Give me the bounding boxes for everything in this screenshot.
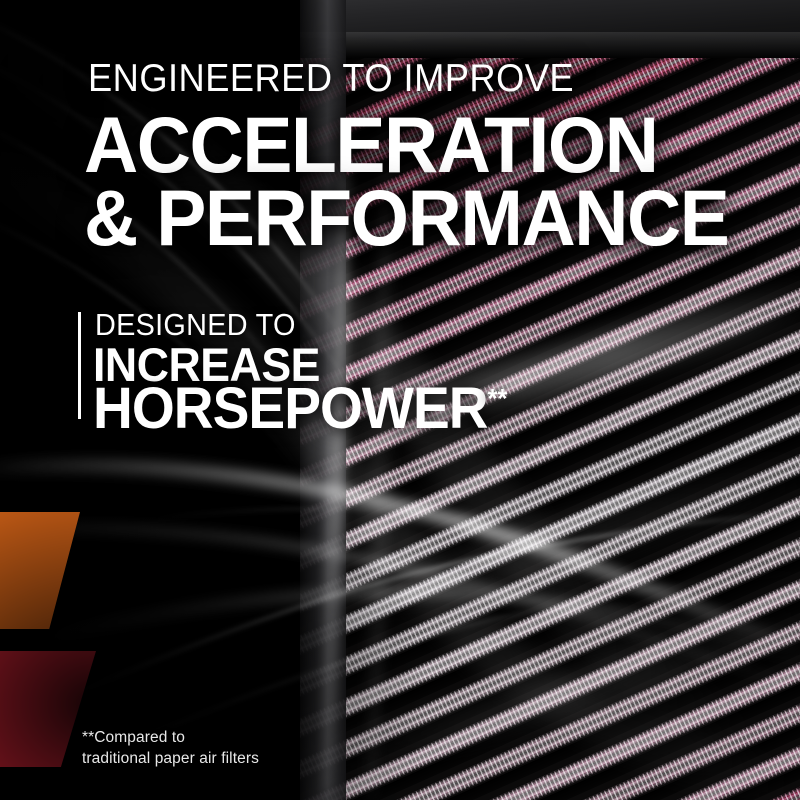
headline-eyebrow: ENGINEERED TO IMPROVE xyxy=(88,57,574,101)
copy-block: ENGINEERED TO IMPROVE ACCELERATION & PER… xyxy=(0,0,800,800)
vertical-accent-rule xyxy=(78,312,81,419)
headline-line-2: & PERFORMANCE xyxy=(84,178,728,257)
footnote-line-1: **Compared to xyxy=(82,729,185,747)
subhead-line-2-text: HORSEPOWER xyxy=(93,376,488,441)
footnote-line-2: traditional paper air filters xyxy=(82,750,259,768)
subhead-line-2: HORSEPOWER** xyxy=(93,375,507,442)
marketing-banner: ENGINEERED TO IMPROVE ACCELERATION & PER… xyxy=(0,0,800,800)
footnote-marker: ** xyxy=(488,384,508,414)
